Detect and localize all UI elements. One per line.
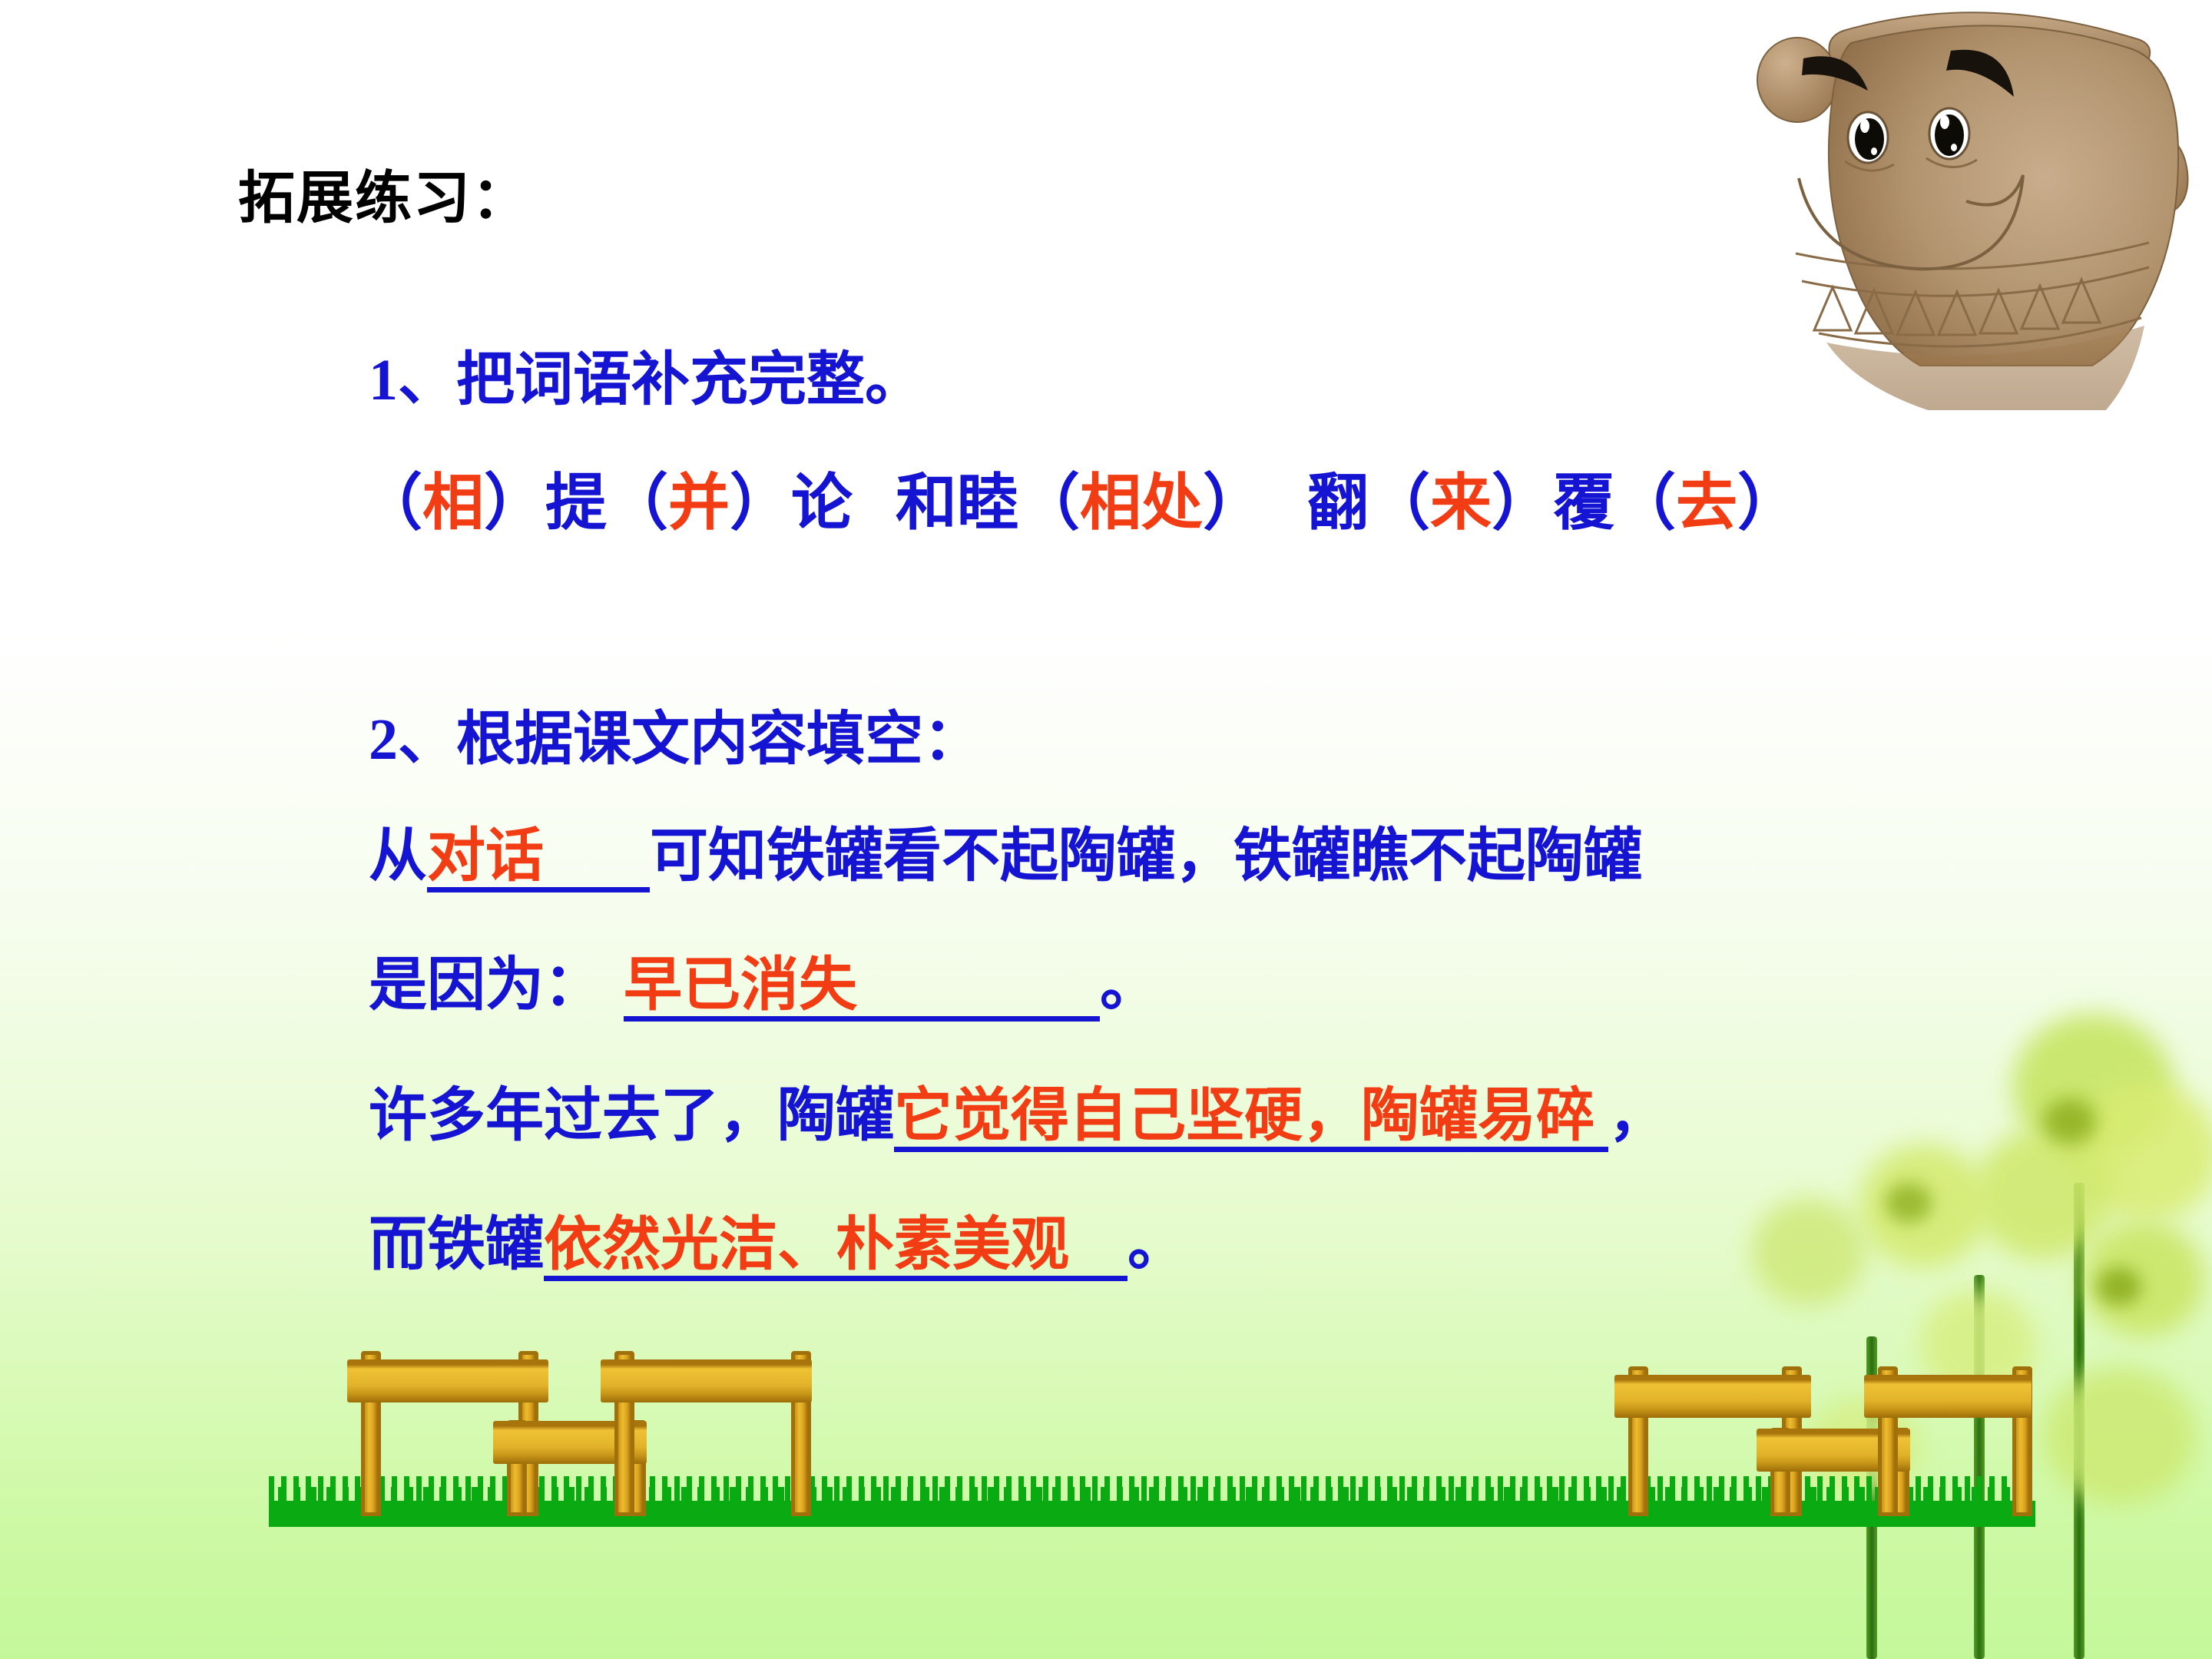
idiom3-answer2: 去 <box>1676 467 1737 538</box>
pot-eye-right <box>1929 108 1969 159</box>
fill-line-2-blank[interactable]: 早已消失 <box>624 954 1100 1022</box>
fill-line-1-before: 从 <box>369 824 427 889</box>
paren-open: （ <box>1018 470 1080 538</box>
flower-blossom <box>1751 1198 1866 1306</box>
paren-close: ） <box>730 470 791 538</box>
fill-line-2-after: 。 <box>1100 953 1158 1018</box>
slide-canvas: 拓展练习： 1、把词语补充完整。 （相）提（并）论和睦（相处）翻（来）覆（去） … <box>0 0 2212 1659</box>
idiom1-mid: 提 <box>545 470 607 538</box>
fill-line-3-blank[interactable]: 它觉得自己坚硬，陶罐易碎 <box>894 1084 1608 1152</box>
fence-rail <box>347 1359 548 1402</box>
paren-close: ） <box>1492 470 1553 538</box>
page-title: 拓展练习： <box>238 152 530 234</box>
flower-blossom <box>2081 1221 2204 1336</box>
idiom3-lead: 翻 <box>1307 470 1369 538</box>
paren-close: ） <box>1203 470 1264 538</box>
idiom3-mid: 覆 <box>1553 470 1614 538</box>
fill-line-4-after: 。 <box>1128 1213 1186 1277</box>
paren-open: （ <box>607 470 668 538</box>
idiom2: 和睦（相处） <box>896 470 1264 538</box>
paren-close: ） <box>1737 470 1799 538</box>
flower-stem <box>2074 1183 2085 1659</box>
pot-eye-left <box>1848 112 1888 163</box>
pot-handle-left <box>1757 38 1837 122</box>
idiom1: （相）提（并）论 <box>361 470 853 538</box>
idiom3-answer1: 来 <box>1430 467 1492 538</box>
flower-stem <box>1974 1275 1985 1659</box>
clay-pot-mascot-icon <box>1728 0 2204 410</box>
exercise-1-prompt: 1、把词语补充完整。 <box>369 332 923 416</box>
fence-rail <box>1614 1375 1811 1418</box>
fill-line-1: 从对话可知铁罐看不起陶罐，铁罐瞧不起陶罐 <box>369 808 1642 892</box>
idiom2-answer: 相处 <box>1080 470 1203 538</box>
paren-open: （ <box>361 470 422 538</box>
idiom3: 翻（来）覆（去） <box>1307 470 1799 538</box>
idiom1-answer2: 并 <box>668 467 730 538</box>
flower-decoration <box>1613 968 2212 1659</box>
fence-rail <box>1864 1375 2032 1418</box>
paren-close: ） <box>484 470 545 538</box>
fill-line-3-after: ， <box>1608 1084 1667 1148</box>
fill-line-4-blank[interactable]: 依然光洁、朴素美观 <box>544 1214 1128 1281</box>
fill-line-1-after: 可知铁罐看不起陶罐，铁罐瞧不起陶罐 <box>650 824 1642 889</box>
paren-open: （ <box>1614 470 1676 538</box>
idiom1-tail: 论 <box>791 470 853 538</box>
flower-center <box>1886 1183 1932 1223</box>
fill-line-3: 许多年过去了，陶罐它觉得自己坚硬，陶罐易碎， <box>369 1068 1667 1152</box>
flower-blossom <box>2074 1083 2212 1221</box>
paren-open: （ <box>1369 470 1430 538</box>
exercise-1-idiom-row: （相）提（并）论和睦（相处）翻（来）覆（去） <box>361 453 1799 542</box>
flower-blossom <box>2012 1014 2174 1160</box>
fill-line-4: 而铁罐依然光洁、朴素美观。 <box>369 1197 1186 1281</box>
fill-line-2: 是因为：早已消失。 <box>369 937 1158 1022</box>
exercise-2-prompt: 2、根据课文内容填空： <box>369 691 982 776</box>
idiom1-answer1: 相 <box>422 467 484 538</box>
fill-line-3-before: 许多年过去了，陶罐 <box>369 1084 894 1148</box>
fence-rail <box>601 1359 812 1402</box>
fill-line-2-before: 是因为： <box>369 953 602 1018</box>
fill-line-4-before: 而铁罐 <box>369 1213 544 1277</box>
idiom2-lead: 和睦 <box>896 470 1018 538</box>
flower-blossom <box>2043 1367 2197 1505</box>
flower-center <box>2043 1098 2097 1144</box>
flower-blossom <box>1859 1144 1989 1267</box>
flower-blossom <box>1974 1129 2112 1260</box>
fill-line-1-blank[interactable]: 对话 <box>427 825 650 892</box>
flower-center <box>2097 1267 2141 1306</box>
